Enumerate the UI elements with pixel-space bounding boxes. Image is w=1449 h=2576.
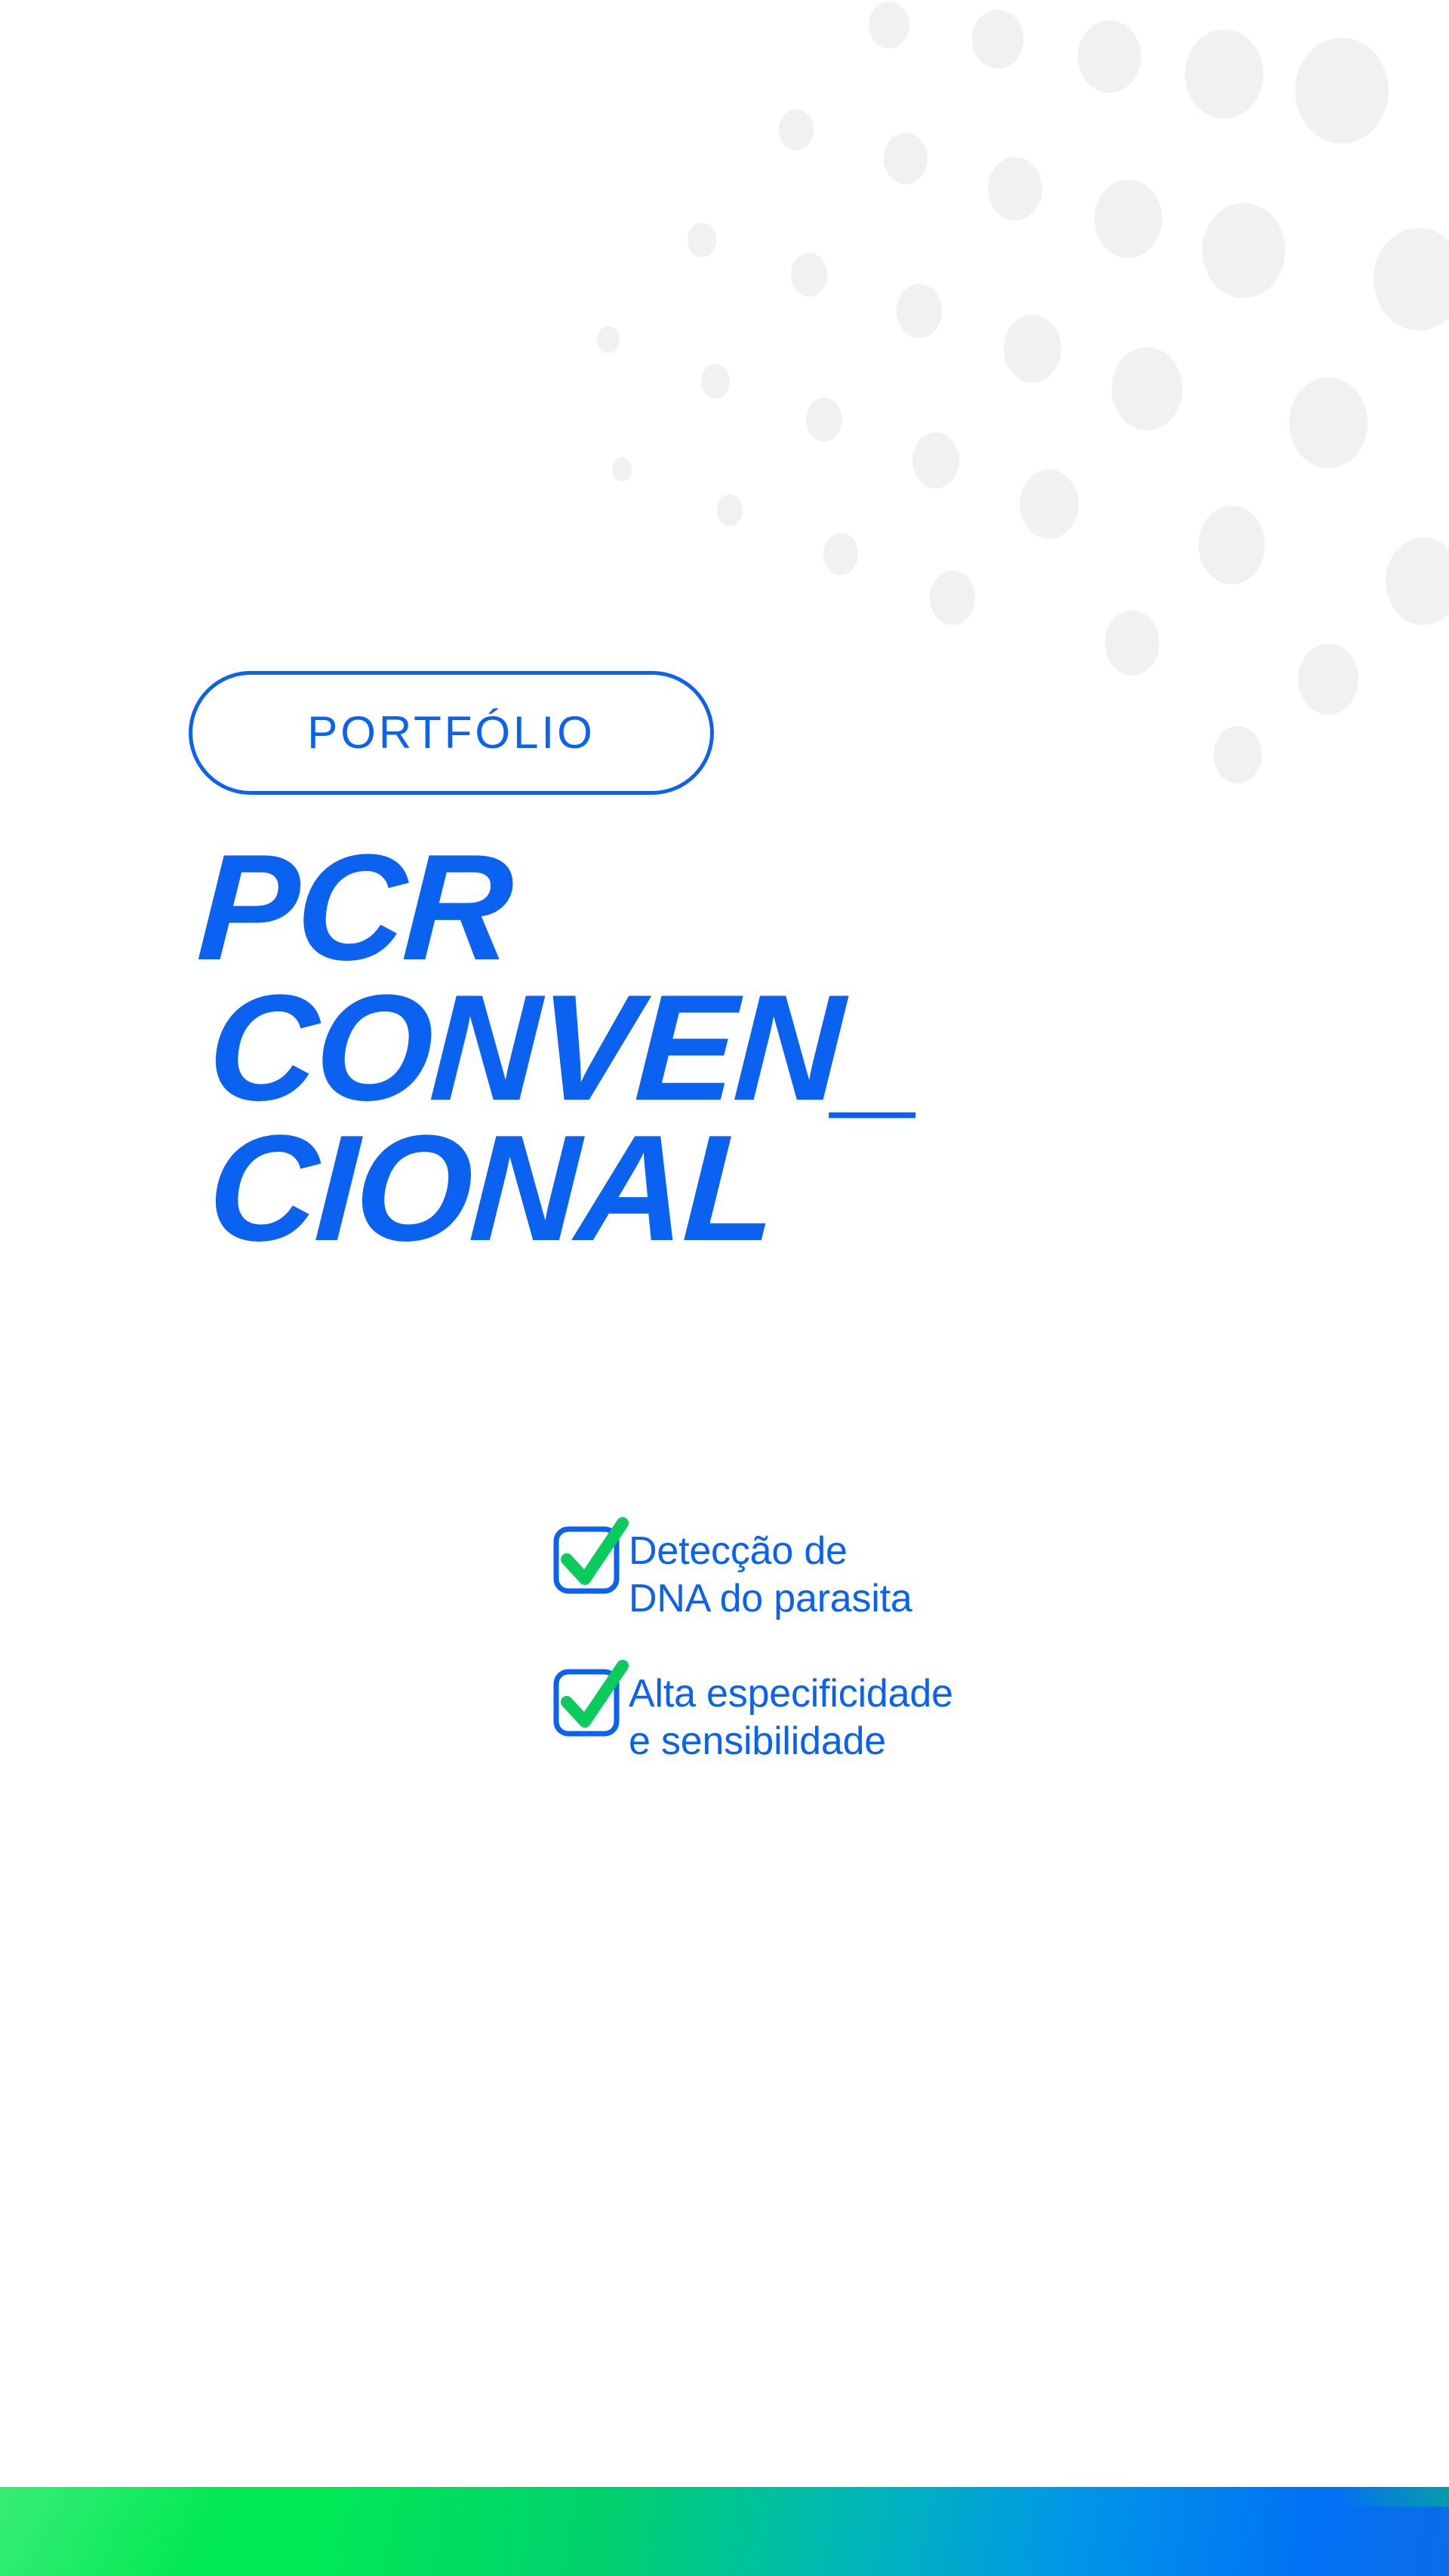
portfolio-badge[interactable]: PORTFÓLIO xyxy=(189,671,714,795)
title-line-2: CONVEN_ xyxy=(205,978,1183,1119)
pattern-dot xyxy=(1020,469,1078,539)
pattern-dot xyxy=(930,571,975,625)
pattern-dot xyxy=(1374,228,1449,331)
poster-canvas: PORTFÓLIO PCR CONVEN_ CIONAL Detecção de… xyxy=(0,0,1449,2576)
pattern-dot xyxy=(1298,644,1358,715)
pattern-dot xyxy=(972,10,1023,69)
pattern-dot xyxy=(1105,611,1159,676)
checkbox-checked-icon xyxy=(553,1528,615,1593)
pattern-dot xyxy=(688,223,716,257)
pattern-dot xyxy=(612,457,632,482)
pattern-dot xyxy=(823,533,858,575)
list-item-label: Alta especificidade e sensibilidade xyxy=(629,1667,953,1766)
feature-list: Detecção de DNA do parasita Alta especif… xyxy=(553,1525,1308,1766)
pattern-dot xyxy=(884,133,928,184)
page-title: PCR CONVEN_ CIONAL xyxy=(195,838,1176,1259)
pattern-dot xyxy=(1214,726,1262,783)
list-item-label: Detecção de DNA do parasita xyxy=(629,1525,912,1623)
pattern-dot xyxy=(806,398,842,442)
checkbox-checked-icon xyxy=(553,1670,615,1735)
pattern-dot xyxy=(1112,347,1183,430)
pattern-dot xyxy=(791,253,827,297)
pattern-dot xyxy=(912,432,959,488)
portfolio-badge-label: PORTFÓLIO xyxy=(307,710,595,756)
pattern-dot xyxy=(717,494,743,526)
bottom-gradient-bar xyxy=(0,2487,1449,2576)
pattern-dot xyxy=(1078,20,1141,93)
list-item: Alta especificidade e sensibilidade xyxy=(553,1667,1308,1766)
pattern-dot xyxy=(1185,29,1263,118)
pattern-dot xyxy=(701,364,730,399)
pattern-dot xyxy=(1198,506,1265,584)
title-line-1: PCR xyxy=(195,838,1183,978)
title-line-3: CIONAL xyxy=(205,1119,1183,1259)
list-item: Detecção de DNA do parasita xyxy=(553,1525,1308,1623)
checkbox-checked-svg xyxy=(553,1516,629,1594)
pattern-dot xyxy=(779,109,814,150)
pattern-dot xyxy=(1202,203,1285,298)
pattern-dot xyxy=(1004,315,1061,383)
pattern-dot xyxy=(1295,38,1389,143)
pattern-dot xyxy=(1094,180,1162,258)
pattern-dot xyxy=(597,326,620,353)
pattern-dot xyxy=(988,157,1042,220)
pattern-dot xyxy=(1289,377,1367,468)
pattern-dot xyxy=(897,284,942,338)
pattern-dot xyxy=(1386,537,1449,625)
checkbox-checked-svg xyxy=(553,1658,629,1737)
pattern-dot xyxy=(869,2,909,48)
